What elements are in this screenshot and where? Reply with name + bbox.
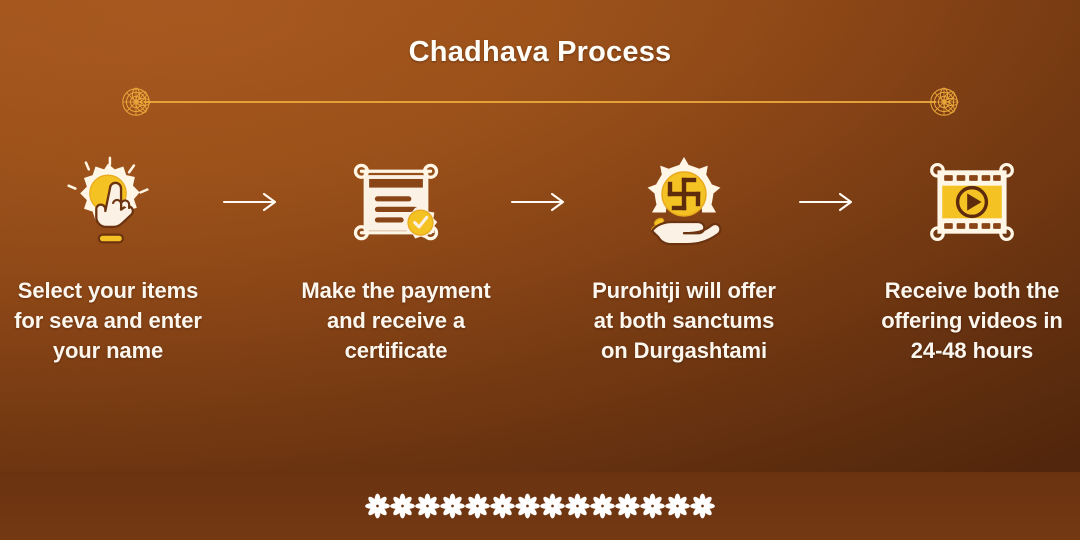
divider-line <box>144 101 936 103</box>
hand-offering-swastika-icon <box>634 152 734 252</box>
process-steps: Select your items for seva and enter you… <box>0 150 1080 440</box>
film-strip-play-icon <box>924 154 1020 250</box>
mandala-rosette-icon <box>118 84 154 120</box>
arrow-step3-to-step4 <box>790 150 866 254</box>
flower-icon <box>540 491 565 521</box>
hand-click-select-icon <box>60 154 156 250</box>
flower-icon <box>365 491 390 521</box>
step-2-caption: Make the payment and receive a certifica… <box>290 276 502 366</box>
flower-icon <box>665 491 690 521</box>
flower-icon <box>615 491 640 521</box>
arrow-step1-to-step2 <box>214 150 290 254</box>
flower-icon <box>415 491 440 521</box>
flower-icon <box>515 491 540 521</box>
page-title: Chadhava Process <box>0 36 1080 69</box>
flower-icon <box>440 491 465 521</box>
footer-ornament-band <box>0 472 1080 540</box>
arrow-right-icon <box>222 190 282 214</box>
mandala-rosette-icon <box>926 84 962 120</box>
arrow-right-icon <box>510 190 570 214</box>
chadhava-process-graphic: Chadhava Process <box>0 0 1080 540</box>
arrow-right-icon <box>798 190 858 214</box>
flower-icon <box>490 491 515 521</box>
step-4-caption: Receive both the offering videos in 24-4… <box>866 276 1078 366</box>
flower-icon <box>390 491 415 521</box>
process-step-4: Receive both the offering videos in 24-4… <box>866 150 1078 366</box>
step-3-caption: Purohitji will offer at both sanctums on… <box>578 276 790 366</box>
process-step-1: Select your items for seva and enter you… <box>2 150 214 366</box>
step-2-icon-wrap <box>348 150 444 254</box>
step-3-icon-wrap <box>634 150 734 254</box>
flower-icon <box>590 491 615 521</box>
flower-icon <box>640 491 665 521</box>
step-1-caption: Select your items for seva and enter you… <box>2 276 214 366</box>
arrow-step2-to-step3 <box>502 150 578 254</box>
process-step-2: Make the payment and receive a certifica… <box>290 150 502 366</box>
footer-flower-strip <box>365 491 715 521</box>
flower-icon <box>690 491 715 521</box>
step-4-icon-wrap <box>924 150 1020 254</box>
decorative-divider <box>108 84 972 120</box>
step-1-icon-wrap <box>60 150 156 254</box>
process-step-3: Purohitji will offer at both sanctums on… <box>578 150 790 366</box>
flower-icon <box>565 491 590 521</box>
flower-icon <box>465 491 490 521</box>
certificate-seal-icon <box>348 154 444 250</box>
